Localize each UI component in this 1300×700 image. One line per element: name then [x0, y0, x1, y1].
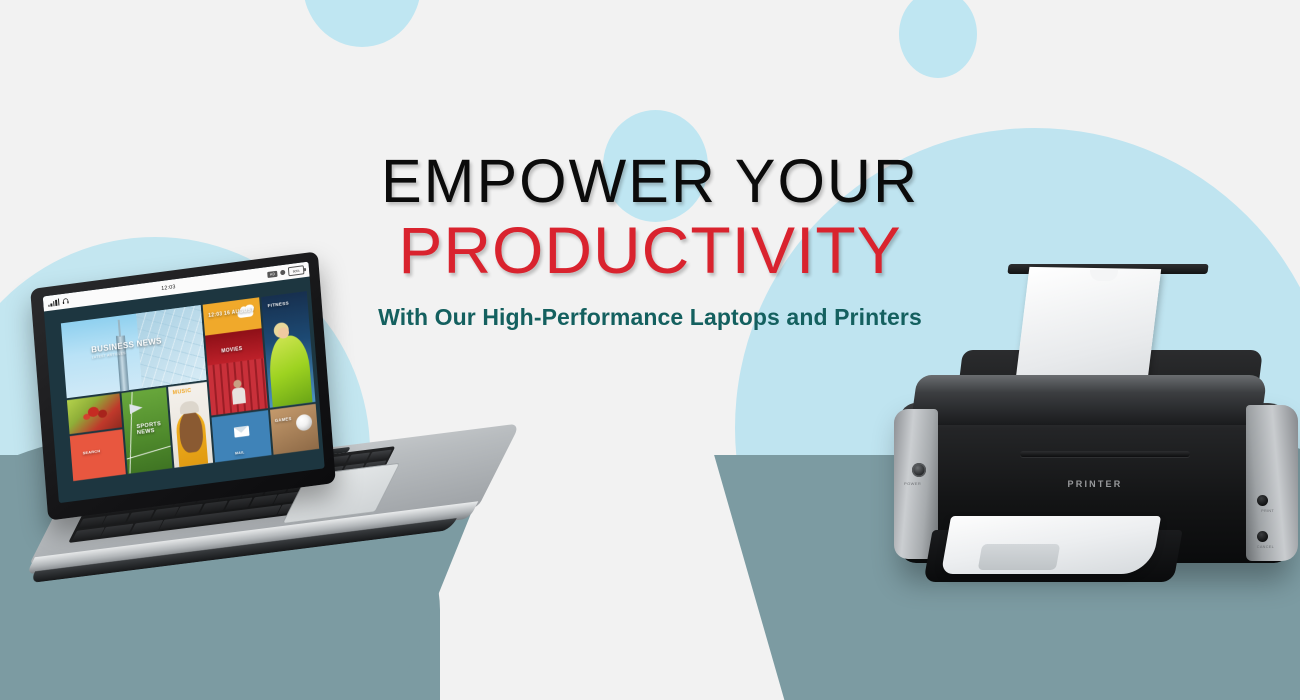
decorative-circle-top-right: [899, 0, 977, 78]
cancel-button[interactable]: [1257, 531, 1268, 542]
cancel-button-label: CANCEL: [1257, 545, 1274, 549]
decorative-circle-top-left: [303, 0, 421, 47]
tile-movies: MOVIES: [205, 328, 268, 415]
tile-label: GAMES: [275, 417, 292, 424]
printer-brand-text: PRINTER: [900, 479, 1290, 489]
tile-label: SEARCH: [83, 449, 101, 455]
tile-sports-news: SPORTS NEWS: [121, 388, 173, 474]
printer-output-slot: [1020, 451, 1190, 457]
hero-banner: EMPOWER YOUR PRODUCTIVITY With Our High-…: [0, 0, 1300, 700]
print-button[interactable]: [1257, 495, 1268, 506]
tile-food: [67, 394, 122, 434]
tile-label: MAIL: [235, 451, 245, 456]
banner-subtitle: With Our High-Performance Laptops and Pr…: [0, 304, 1300, 331]
headline-line-2: PRODUCTIVITY: [0, 216, 1300, 285]
print-button-label: PRINT: [1261, 509, 1274, 513]
headline-block: EMPOWER YOUR PRODUCTIVITY With Our High-…: [0, 150, 1300, 331]
baseball-icon: [296, 413, 313, 431]
headline-line-1: EMPOWER YOUR: [0, 150, 1300, 212]
tile-search: SEARCH: [70, 429, 126, 481]
tile-games: GAMES: [270, 404, 319, 455]
envelope-icon: [234, 426, 250, 438]
power-button-label: POWER: [904, 481, 921, 486]
tile-mail: MAIL: [212, 410, 272, 463]
tile-label: SPORTS NEWS: [136, 421, 170, 437]
power-button-icon[interactable]: [912, 463, 926, 477]
tile-label: MUSIC: [173, 388, 192, 396]
printer-paper-stop: [978, 544, 1061, 570]
tile-music: MUSIC: [168, 382, 213, 467]
printer-top-lid: [910, 375, 1267, 425]
tile-label: MOVIES: [221, 347, 242, 355]
